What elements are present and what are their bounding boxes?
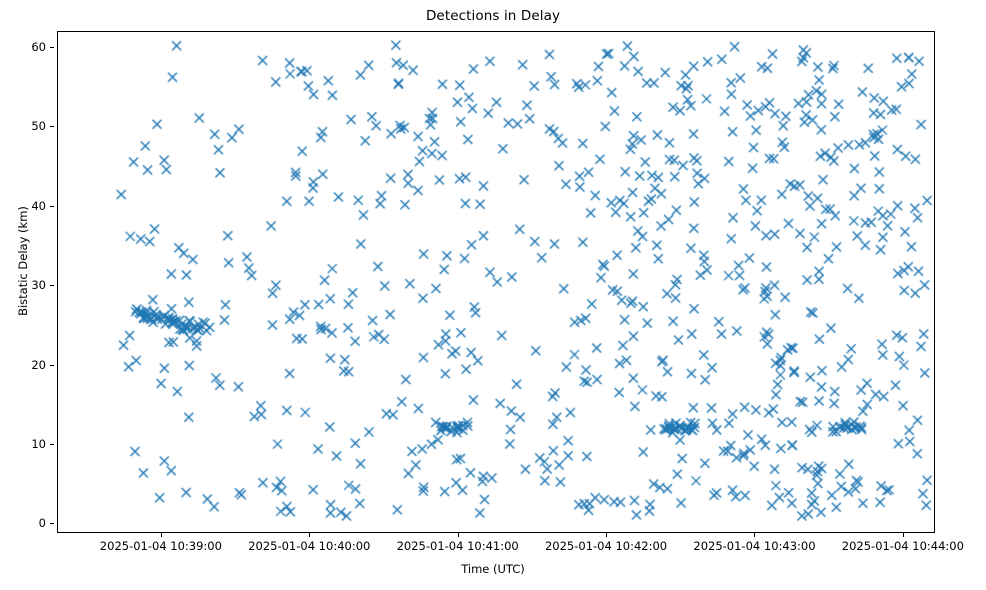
y-tick-mark bbox=[50, 285, 54, 286]
y-tick-mark bbox=[50, 126, 54, 127]
y-tick-label: 0 bbox=[39, 516, 46, 530]
plot-axes-area bbox=[57, 31, 935, 533]
x-tick-mark bbox=[458, 533, 459, 537]
page-title: Detections in Delay bbox=[0, 8, 986, 24]
y-tick-mark bbox=[50, 444, 54, 445]
x-tick-label: 2025-01-04 10:43:00 bbox=[693, 539, 815, 553]
x-tick-mark bbox=[754, 533, 755, 537]
y-tick-label: 40 bbox=[31, 199, 46, 213]
x-tick-label: 2025-01-04 10:39:00 bbox=[100, 539, 222, 553]
y-tick-label: 60 bbox=[31, 40, 46, 54]
y-tick-mark bbox=[50, 206, 54, 207]
scatter-series-detections bbox=[58, 32, 934, 532]
y-tick-label: 20 bbox=[31, 358, 46, 372]
x-tick-mark bbox=[606, 533, 607, 537]
x-tick-mark bbox=[309, 533, 310, 537]
y-tick-label: 50 bbox=[31, 119, 46, 133]
x-tick-mark bbox=[903, 533, 904, 537]
x-tick-mark bbox=[161, 533, 162, 537]
matplotlib-figure: Detections in Delay 0102030405060 2025-0… bbox=[0, 0, 986, 590]
x-axis-label: Time (UTC) bbox=[0, 562, 986, 576]
y-tick-label: 30 bbox=[31, 278, 46, 292]
y-tick-mark bbox=[50, 47, 54, 48]
y-axis-label: Bistatic Delay (km) bbox=[16, 131, 30, 391]
y-tick-mark bbox=[50, 365, 54, 366]
y-tick-mark bbox=[50, 523, 54, 524]
x-tick-label: 2025-01-04 10:42:00 bbox=[545, 539, 667, 553]
x-tick-label: 2025-01-04 10:41:00 bbox=[397, 539, 519, 553]
x-tick-label: 2025-01-04 10:40:00 bbox=[248, 539, 370, 553]
x-tick-label: 2025-01-04 10:44:00 bbox=[842, 539, 964, 553]
y-tick-label: 10 bbox=[31, 437, 46, 451]
